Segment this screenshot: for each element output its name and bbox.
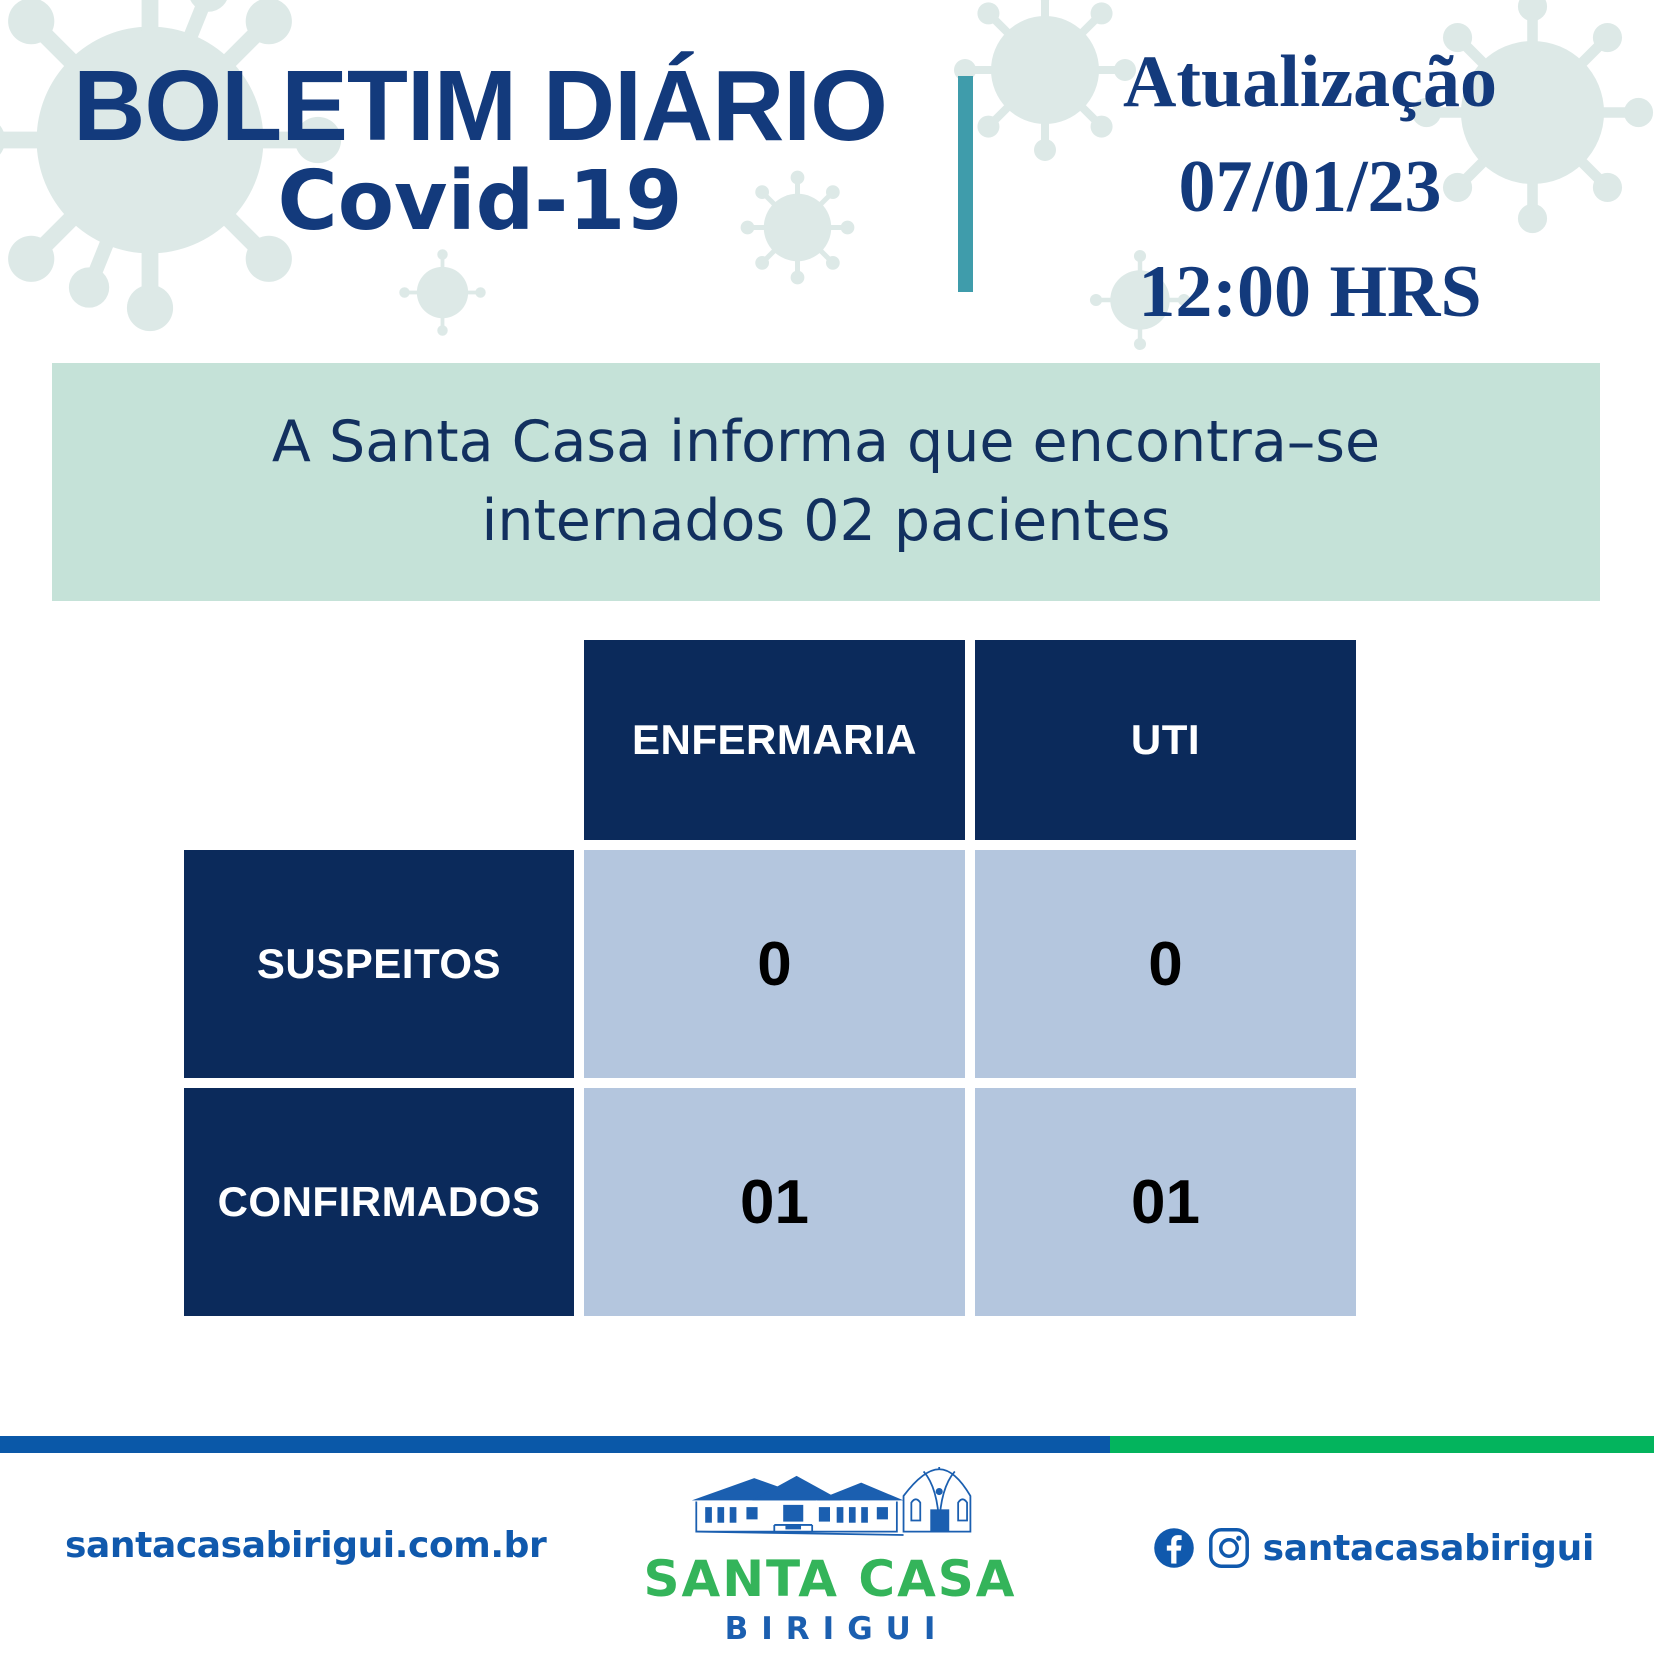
header-divider bbox=[958, 76, 973, 292]
table-corner-cell bbox=[184, 640, 574, 840]
header: BOLETIM DIÁRIO Covid-19 Atualização 07/0… bbox=[0, 0, 1654, 360]
social-links[interactable]: santacasabirigui bbox=[1153, 1527, 1594, 1569]
title-main: BOLETIM DIÁRIO bbox=[70, 55, 890, 157]
facebook-icon[interactable] bbox=[1153, 1527, 1195, 1569]
row-header-suspeitos: SUSPEITOS bbox=[184, 850, 574, 1078]
info-banner: A Santa Casa informa que encontra–se int… bbox=[52, 363, 1600, 601]
footer-bar-blue-segment bbox=[0, 1436, 1110, 1453]
cell-suspeitos-enfermaria: 0 bbox=[584, 850, 965, 1078]
banner-line-2: internados 02 pacientes bbox=[482, 482, 1171, 561]
update-date: 07/01/23 bbox=[990, 135, 1630, 240]
table-row: SUSPEITOS 0 0 bbox=[184, 850, 1356, 1078]
logo-city: BIRIGUI bbox=[640, 1611, 1020, 1647]
logo-name: SANTA CASA bbox=[640, 1552, 1020, 1607]
footer-bar-green-segment bbox=[1110, 1436, 1654, 1453]
santa-casa-logo: SANTA CASA BIRIGUI bbox=[640, 1467, 1020, 1647]
cell-confirmados-uti: 01 bbox=[975, 1088, 1356, 1316]
update-label: Atualização bbox=[990, 30, 1630, 135]
footer: santacasabirigui.com.br bbox=[0, 1453, 1654, 1654]
column-header-uti: UTI bbox=[975, 640, 1356, 840]
instagram-icon[interactable] bbox=[1208, 1527, 1250, 1569]
update-time: 12:00 HRS bbox=[990, 240, 1630, 345]
cell-suspeitos-uti: 0 bbox=[975, 850, 1356, 1078]
table-row: CONFIRMADOS 01 01 bbox=[184, 1088, 1356, 1316]
banner-line-1: A Santa Casa informa que encontra–se bbox=[272, 403, 1380, 482]
covid-daily-bulletin-infographic: BOLETIM DIÁRIO Covid-19 Atualização 07/0… bbox=[0, 0, 1654, 1654]
update-block: Atualização 07/01/23 12:00 HRS bbox=[990, 30, 1630, 345]
occupancy-table: ENFERMARIA UTI SUSPEITOS 0 0 CONFIRMADOS… bbox=[184, 640, 1356, 1316]
column-header-enfermaria: ENFERMARIA bbox=[584, 640, 965, 840]
footer-divider-bar bbox=[0, 1436, 1654, 1453]
page-title: BOLETIM DIÁRIO Covid-19 bbox=[70, 55, 890, 245]
row-header-confirmados: CONFIRMADOS bbox=[184, 1088, 574, 1316]
hospital-building-icon bbox=[680, 1467, 980, 1545]
table-header-row: ENFERMARIA UTI bbox=[184, 640, 1356, 840]
website-link[interactable]: santacasabirigui.com.br bbox=[65, 1525, 546, 1566]
cell-confirmados-enfermaria: 01 bbox=[584, 1088, 965, 1316]
social-handle[interactable]: santacasabirigui bbox=[1263, 1528, 1594, 1569]
title-sub: Covid-19 bbox=[70, 159, 890, 245]
